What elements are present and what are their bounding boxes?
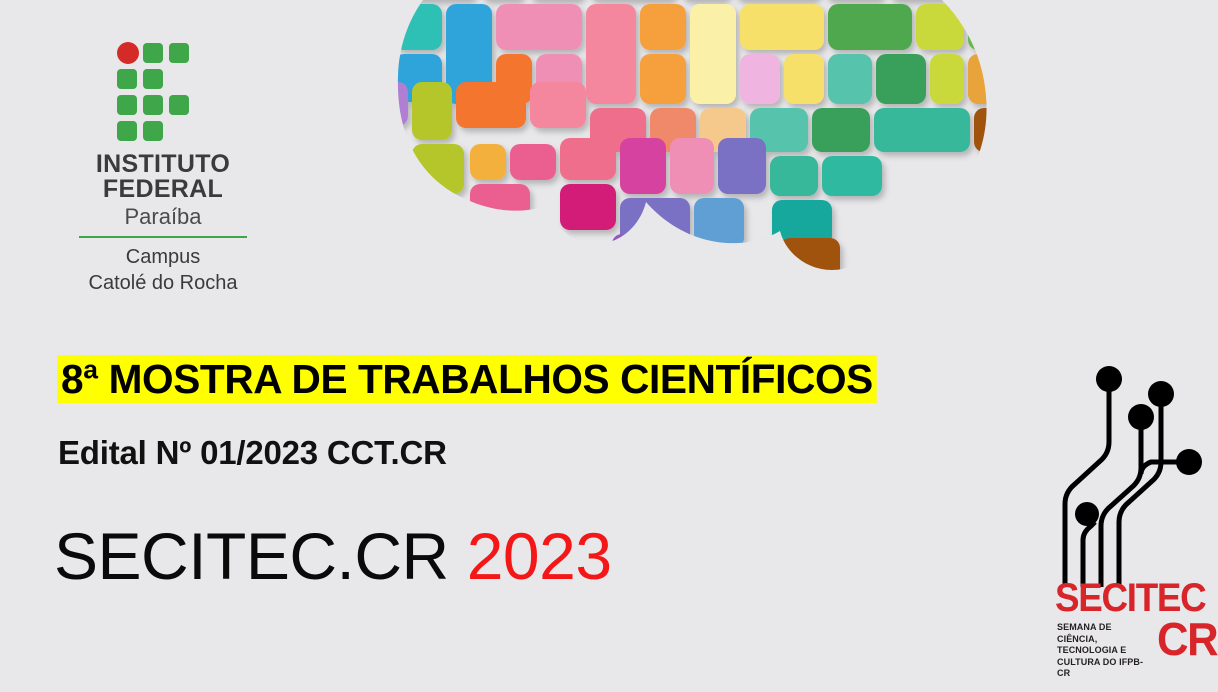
edital-line: Edital Nº 01/2023 CCT.CR	[58, 434, 447, 472]
main-title-container: 8ª MOSTRA DE TRABALHOS CIENTÍFICOS	[57, 355, 885, 403]
ifpb-mark-icon	[117, 42, 209, 142]
ifpb-campus-name: Catolé do Rocha	[63, 270, 263, 296]
ifpb-campus-label: Campus	[63, 244, 263, 270]
secitec-tagline-line3: CULTURA DO IFPB-CR	[1057, 657, 1153, 680]
secitec-wordmark: SECITEC	[1055, 580, 1205, 616]
circuit-traces-icon	[1053, 362, 1211, 587]
ifpb-line-federal: FEDERAL	[63, 177, 263, 202]
brain-puzzle-illustration	[360, 0, 1000, 286]
secitec-cr-suffix: CR	[1157, 616, 1217, 662]
ifpb-state-paraiba: Paraíba	[63, 202, 263, 232]
poster-canvas: INSTITUTO FEDERAL Paraíba Campus Catolé …	[0, 0, 1218, 692]
wordmark-primary: SECITEC.CR	[54, 519, 449, 593]
ifpb-divider	[79, 236, 247, 238]
secitec-cr-logo: SECITEC SEMANA DE CIÊNCIA, TECNOLOGIA E …	[1053, 362, 1211, 680]
main-title: 8ª MOSTRA DE TRABALHOS CIENTÍFICOS	[57, 355, 877, 403]
wordmark-year: 2023	[467, 519, 612, 593]
secitec-tagline-line2: TECNOLOGIA E	[1057, 645, 1153, 657]
ifpb-line-instituto: INSTITUTO	[63, 152, 263, 177]
secitec-tagline-line1: SEMANA DE CIÊNCIA,	[1057, 622, 1153, 645]
ifpb-logo: INSTITUTO FEDERAL Paraíba Campus Catolé …	[63, 28, 263, 296]
secitec-tagline: SEMANA DE CIÊNCIA, TECNOLOGIA E CULTURA …	[1057, 622, 1153, 680]
event-wordmark: SECITEC.CR2023	[54, 516, 612, 596]
